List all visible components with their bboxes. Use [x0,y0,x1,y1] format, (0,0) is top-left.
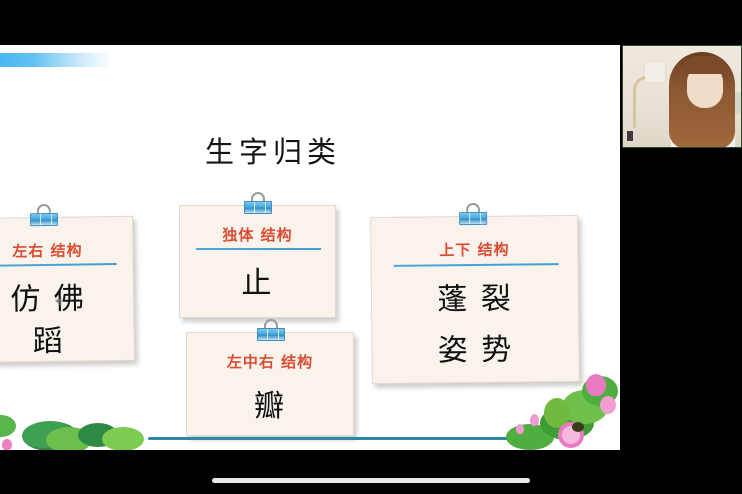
card-left-right-row-2: 蹈 [0,315,134,361]
card-left-right-row-1: 仿 佛 [0,273,133,319]
binder-clip-icon [30,204,58,226]
letterbox-bottom [0,450,742,494]
binder-clip-icon [244,192,272,214]
card-single-structure[interactable]: 独体 结构 止 [179,205,336,318]
home-indicator[interactable] [212,478,530,483]
binder-clip-icon [257,319,285,341]
shared-slide[interactable]: 生字归类 左右 结构 仿 佛 蹈 独体 结构 止 上下 结构 [0,45,620,450]
video-label [627,131,633,141]
card-left-mid-right-row-1: 瓣 [187,381,353,425]
lampshade-icon [645,62,665,82]
slide-title: 生字归类 [205,129,375,171]
water-line [148,437,540,440]
card-single-rule [196,248,321,250]
lamp-icon [633,76,657,128]
card-left-mid-right-heading: 左中右 结构 [187,351,353,372]
letterbox-top [0,0,742,45]
lily-pad-icon [0,415,16,437]
card-top-bottom-heading: 上下 结构 [371,238,577,261]
card-left-right-heading: 左右 结构 [0,239,133,262]
card-top-bottom-row-1: 蓬 裂 [372,273,578,319]
person-bangs [683,56,727,74]
card-top-bottom-row-2: 姿 势 [372,324,578,370]
slide-accent-bar [0,53,112,67]
lily-pad-icon [102,427,144,450]
card-top-bottom-rule [394,263,559,267]
card-top-bottom[interactable]: 上下 结构 蓬 裂 姿 势 [370,215,580,384]
binder-clip-icon [459,203,487,225]
lotus-bud-icon [2,439,12,450]
lotus-flower-icon [500,372,620,450]
card-single-row-1: 止 [180,258,335,302]
app-screen: 生字归类 左右 结构 仿 佛 蹈 独体 结构 止 上下 结构 [0,0,742,494]
card-left-mid-right[interactable]: 左中右 结构 瓣 [186,332,354,436]
card-single-heading: 独体 结构 [180,224,335,245]
video-thumbnail[interactable] [622,45,742,148]
card-left-right[interactable]: 左右 结构 仿 佛 蹈 [0,216,135,363]
card-left-right-rule [0,263,117,267]
